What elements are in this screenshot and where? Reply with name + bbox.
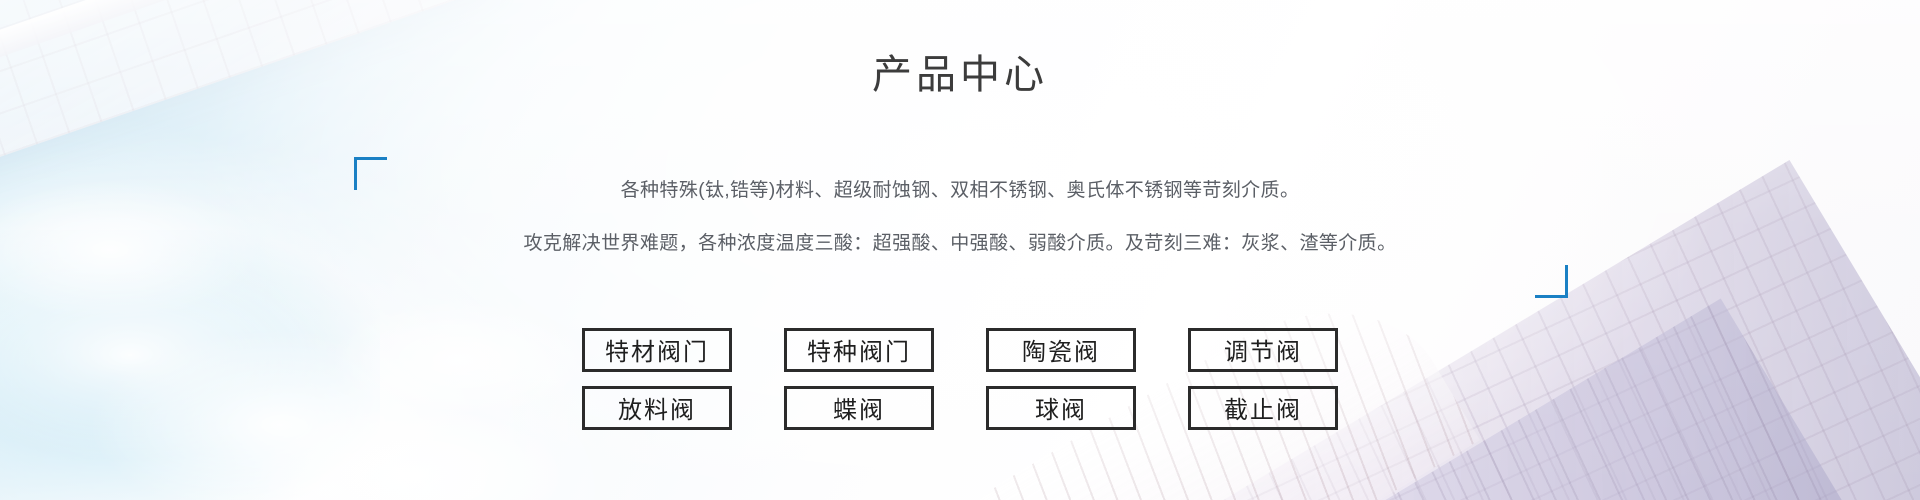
- category-row-1: 特材阀门 特种阀门 陶瓷阀 调节阀: [582, 328, 1338, 372]
- category-button-grid: 特材阀门 特种阀门 陶瓷阀 调节阀 放料阀 蝶阀 球阀 截止阀: [582, 328, 1338, 430]
- category-button-discharge-valve[interactable]: 放料阀: [582, 386, 732, 430]
- category-button-ceramic-valve[interactable]: 陶瓷阀: [986, 328, 1136, 372]
- category-button-globe-valve[interactable]: 截止阀: [1188, 386, 1338, 430]
- corner-bracket-bottom-right-icon: [1535, 265, 1568, 298]
- product-center-banner: 产品中心 各种特殊(钛,锆等)材料、超级耐蚀钢、双相不锈钢、奥氏体不锈钢等苛刻介…: [0, 0, 1920, 500]
- corner-bracket-top-left-icon: [354, 157, 387, 190]
- category-button-techaicai-valve[interactable]: 特材阀门: [582, 328, 732, 372]
- description-line-2: 攻克解决世界难题，各种浓度温度三酸：超强酸、中强酸、弱酸介质。及苛刻三难：灰浆、…: [400, 227, 1520, 261]
- page-title: 产品中心: [872, 50, 1048, 100]
- category-button-butterfly-valve[interactable]: 蝶阀: [784, 386, 934, 430]
- category-row-2: 放料阀 蝶阀 球阀 截止阀: [582, 386, 1338, 430]
- description-block: 各种特殊(钛,锆等)材料、超级耐蚀钢、双相不锈钢、奥氏体不锈钢等苛刻介质。 攻克…: [370, 149, 1550, 290]
- category-button-special-valve[interactable]: 特种阀门: [784, 328, 934, 372]
- description-line-1: 各种特殊(钛,锆等)材料、超级耐蚀钢、双相不锈钢、奥氏体不锈钢等苛刻介质。: [400, 174, 1520, 208]
- category-button-ball-valve[interactable]: 球阀: [986, 386, 1136, 430]
- banner-content: 产品中心 各种特殊(钛,锆等)材料、超级耐蚀钢、双相不锈钢、奥氏体不锈钢等苛刻介…: [0, 0, 1920, 500]
- category-button-control-valve[interactable]: 调节阀: [1188, 328, 1338, 372]
